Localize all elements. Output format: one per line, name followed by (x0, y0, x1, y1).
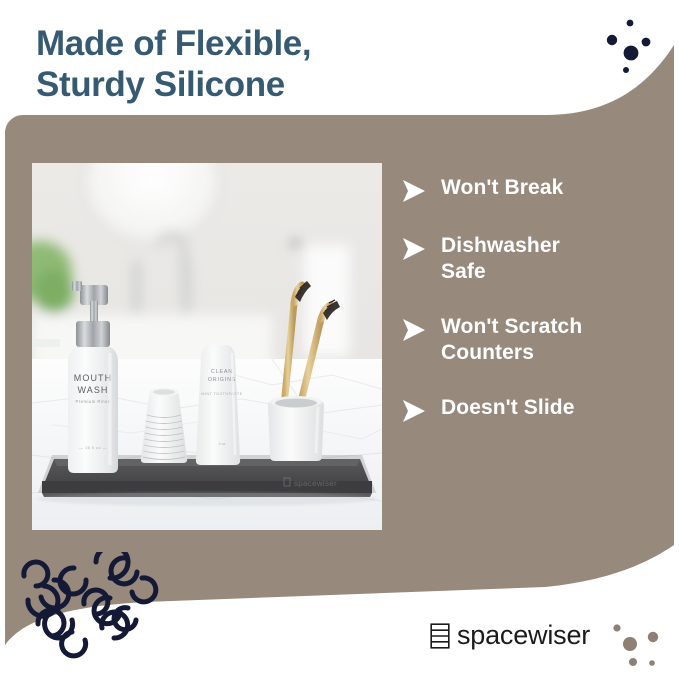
headline-line-1: Made of Flexible, (36, 24, 456, 65)
list-item-label-line-2: Safe (441, 259, 560, 285)
feature-list: Won't Break Dishwasher Safe Won't Scratc… (401, 175, 663, 423)
ad-canvas: Made of Flexible, Sturdy Silicone (0, 0, 679, 679)
list-item-label-line-2: Counters (441, 340, 582, 366)
list-item: Dishwasher Safe (401, 233, 663, 284)
svg-text:spacewiser: spacewiser (294, 479, 337, 488)
list-item: Doesn't Slide (401, 395, 663, 423)
svg-text:Premium Rinse: Premium Rinse (75, 399, 110, 404)
page-title: Made of Flexible, Sturdy Silicone (36, 24, 456, 105)
arrow-right-icon (401, 237, 427, 261)
svg-text:WASH: WASH (77, 385, 108, 395)
list-item-label: Won't Break (441, 175, 563, 201)
headline-line-2: Sturdy Silicone (36, 65, 456, 106)
list-item-label-line-1: Won't Scratch (441, 314, 582, 340)
svg-text:MINT TOOTHPASTE: MINT TOOTHPASTE (201, 392, 242, 396)
svg-text:4 oz: 4 oz (219, 442, 226, 446)
list-item: Won't Break (401, 175, 663, 203)
shelf-tray-icon (430, 623, 450, 649)
arrow-right-icon (401, 318, 427, 342)
list-item-label: Dishwasher Safe (441, 233, 560, 284)
brand-logo: spacewiser (430, 622, 590, 649)
list-item-label-line-1: Dishwasher (441, 233, 560, 259)
arrow-right-icon (401, 179, 427, 203)
product-photo: spacewiser MOUTH WASH Premium Rinse — 16… (32, 163, 382, 530)
list-item: Won't Scratch Counters (401, 314, 663, 365)
svg-text:MOUTH: MOUTH (74, 373, 113, 383)
svg-text:— 16 fl oz —: — 16 fl oz — (79, 445, 107, 450)
product-photo-illustration: spacewiser MOUTH WASH Premium Rinse — 16… (32, 163, 382, 530)
brand-name: spacewiser (457, 622, 590, 649)
arrow-right-icon (401, 399, 427, 423)
list-item-label: Won't Scratch Counters (441, 314, 582, 365)
list-item-label: Doesn't Slide (441, 395, 574, 421)
svg-text:CLEAN: CLEAN (211, 369, 233, 375)
